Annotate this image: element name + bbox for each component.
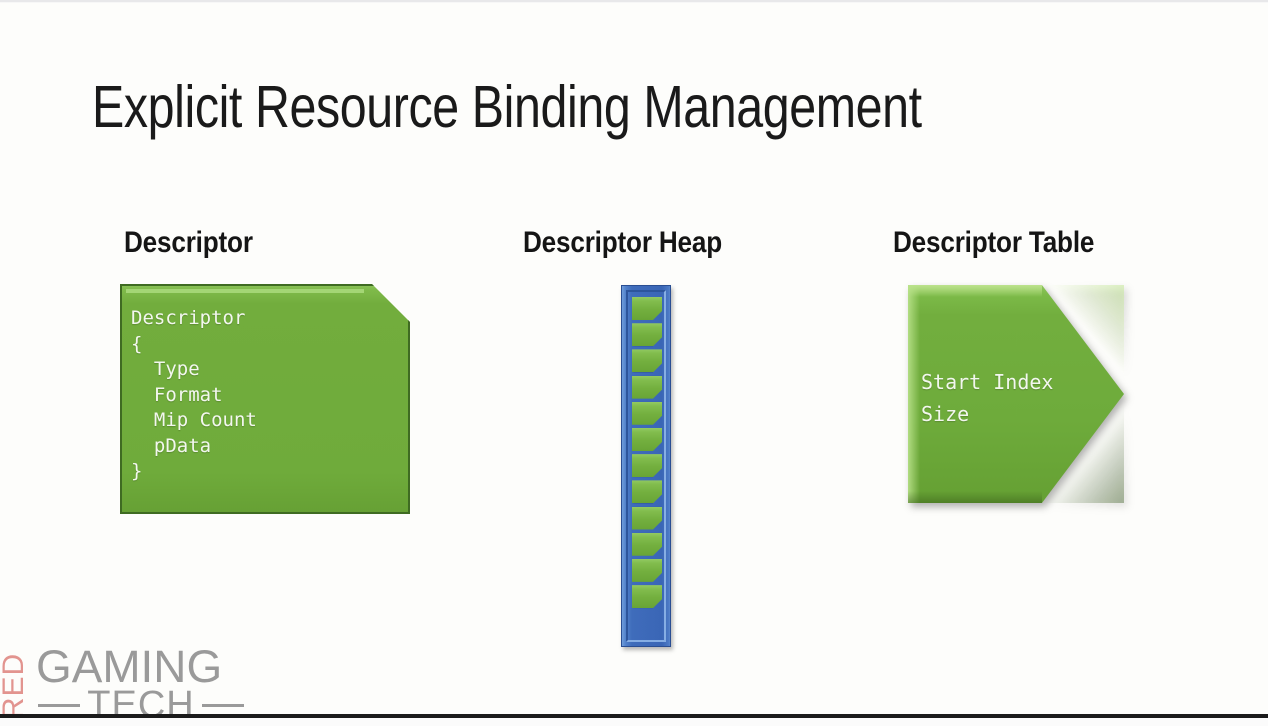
descriptor-heap-slot	[632, 402, 662, 425]
descriptor-code-text: Descriptor { Type Format Mip Count pData…	[131, 306, 257, 485]
heading-descriptor-heap: Descriptor Heap	[523, 226, 722, 260]
descriptor-heap-slot	[632, 376, 662, 399]
slide-canvas: Explicit Resource Binding Management Des…	[0, 0, 1268, 726]
watermark-red-text: RED	[0, 653, 31, 719]
descriptor-table-code-text: Start Index Size	[921, 366, 1053, 430]
heading-descriptor: Descriptor	[124, 226, 253, 260]
frame-divider-top	[0, 0, 1268, 3]
descriptor-heap-slot	[632, 585, 662, 608]
heading-descriptor-table: Descriptor Table	[893, 226, 1094, 260]
watermark-logo: RED GAMING TECH	[4, 641, 244, 721]
descriptor-heap-slot	[632, 533, 662, 556]
watermark-dash-right	[202, 704, 244, 707]
descriptor-heap-container	[621, 285, 671, 647]
descriptor-heap-slot	[632, 349, 662, 372]
frame-divider-bottom	[0, 714, 1268, 726]
descriptor-heap-slot	[632, 454, 662, 477]
descriptor-heap-slot	[632, 323, 662, 346]
watermark-dash-left	[38, 704, 80, 707]
descriptor-heap-slot	[632, 559, 662, 582]
descriptor-note-highlight	[126, 289, 364, 293]
page-title: Explicit Resource Binding Management	[92, 74, 994, 140]
descriptor-heap-slot	[632, 428, 662, 451]
descriptor-heap-slot	[632, 507, 662, 530]
descriptor-heap-slot	[632, 297, 662, 320]
descriptor-heap-slot	[632, 480, 662, 503]
descriptor-heap-slot-list	[622, 286, 672, 648]
